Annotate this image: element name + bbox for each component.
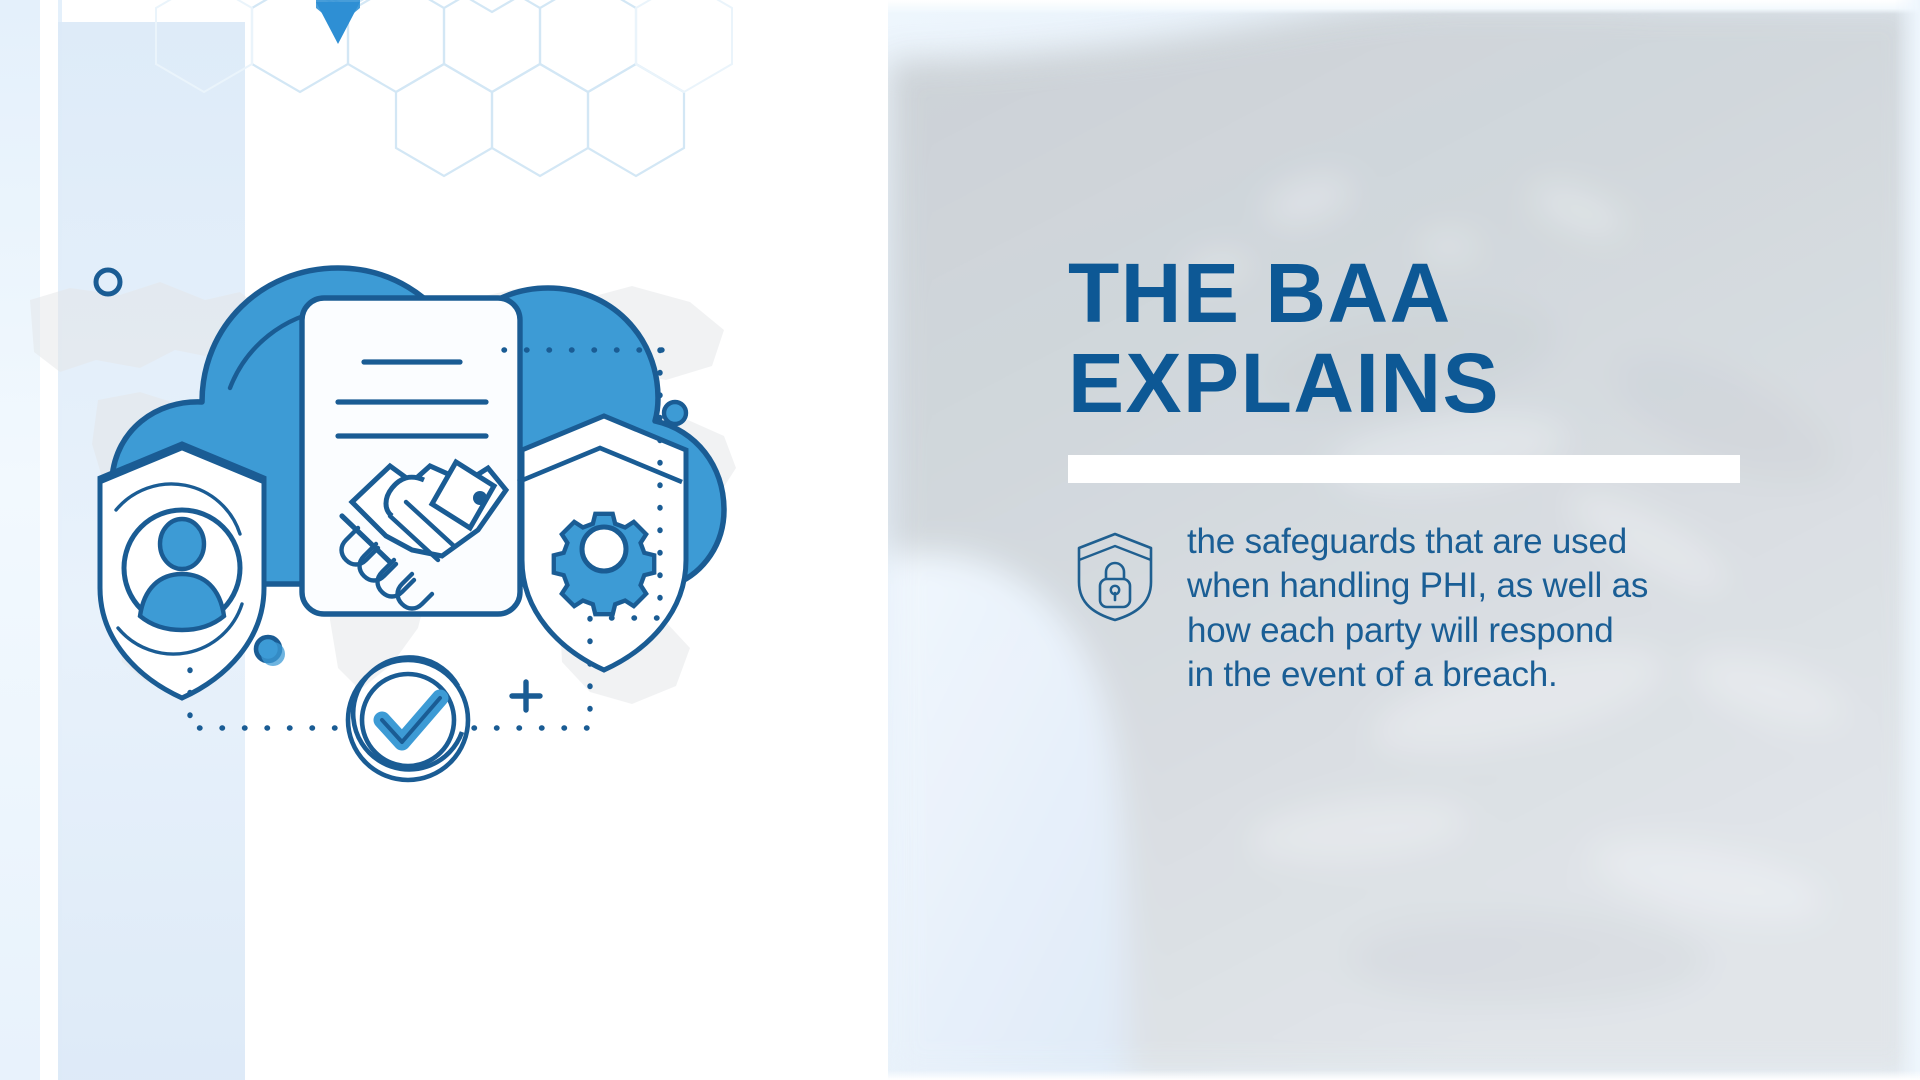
slide-root: .ln{fill:none;stroke:#1a5c94;stroke-widt…: [0, 0, 1920, 1080]
bottom-hairline: [888, 1070, 1920, 1080]
shield-lock-icon: [1073, 530, 1157, 622]
body-line-1: the safeguards that are used: [1187, 520, 1648, 564]
body-line-3: how each party will respond: [1187, 609, 1648, 653]
top-hairline: [888, 0, 1920, 14]
shield-gear-icon: [518, 416, 686, 670]
body-paragraph: the safeguards that are used when handli…: [1187, 520, 1648, 698]
left-illustration-panel: .ln{fill:none;stroke:#1a5c94;stroke-widt…: [0, 0, 888, 1080]
gear-icon: [554, 514, 654, 614]
body-row: the safeguards that are used when handli…: [1073, 520, 1893, 698]
body-line-4: in the event of a breach.: [1187, 653, 1648, 697]
headline-underline-bar: [1068, 455, 1740, 483]
cloud-agreement-illustration: .ln{fill:none;stroke:#1a5c94;stroke-widt…: [90, 130, 730, 810]
right-content-panel: THE BAA EXPLAINS the safeguards that are…: [888, 0, 1920, 1080]
plus-icon: [512, 682, 540, 710]
document-icon: [302, 298, 520, 614]
right-edge-fade: [1894, 0, 1920, 1080]
headline-line-2: EXPLAINS: [1068, 342, 1858, 424]
page-title: THE BAA EXPLAINS: [1068, 252, 1858, 425]
headline-block: THE BAA EXPLAINS: [1068, 252, 1858, 425]
body-line-2: when handling PHI, as well as: [1187, 564, 1648, 608]
headline-line-1: THE BAA: [1068, 246, 1452, 340]
check-circle-icon: [348, 657, 468, 780]
shield-user-icon: [100, 444, 264, 698]
